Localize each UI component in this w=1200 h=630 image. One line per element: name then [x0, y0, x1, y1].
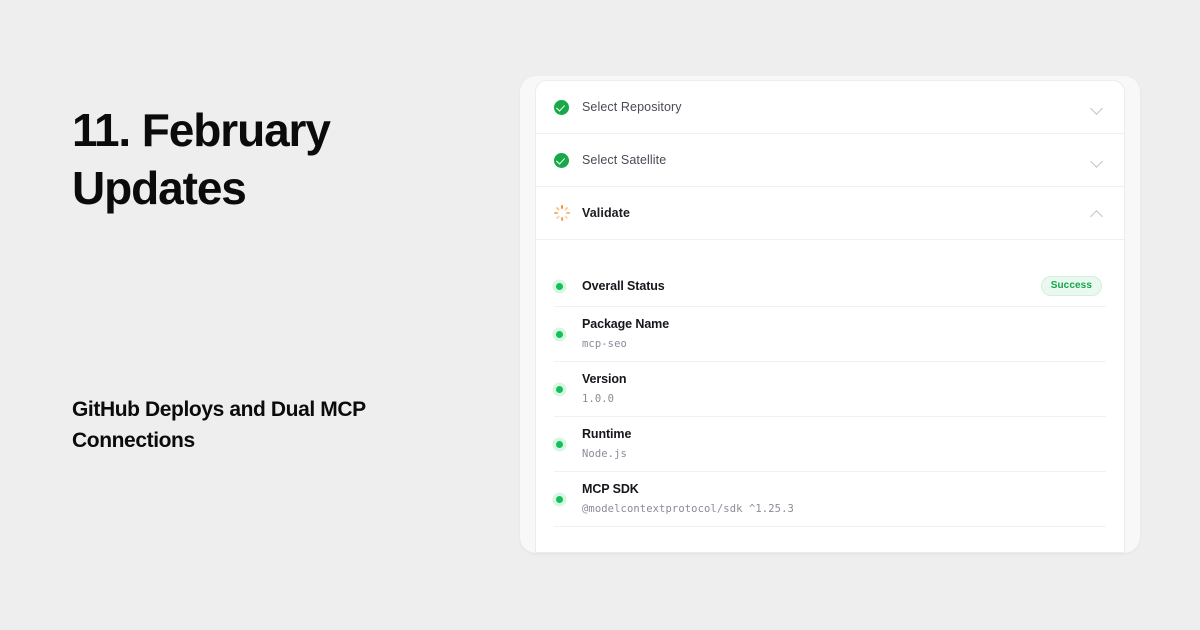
detail-body: Package Name mcp-seo: [582, 307, 1102, 361]
detail-value: mcp-seo: [582, 336, 1102, 352]
status-dot-icon: [556, 331, 563, 338]
page-title: 11. February Updates: [72, 101, 432, 217]
step-status-slot: [554, 100, 582, 115]
detail-dot-slot: [554, 386, 582, 393]
detail-body: Overall Status: [582, 278, 1041, 295]
validate-details-panel: Overall Status Success Package Name mcp-…: [536, 240, 1124, 527]
status-dot-icon: [556, 496, 563, 503]
wizard-step-select-satellite[interactable]: Select Satellite: [536, 134, 1124, 187]
detail-dot-slot: [554, 496, 582, 503]
detail-row-runtime: Runtime Node.js: [554, 417, 1106, 472]
status-dot-icon: [556, 386, 563, 393]
step-status-slot: [554, 153, 582, 168]
wizard-step-validate[interactable]: Validate: [536, 187, 1124, 240]
detail-dot-slot: [554, 441, 582, 448]
hero-text-column: 11. February Updates GitHub Deploys and …: [72, 0, 472, 630]
detail-key: Runtime: [582, 426, 1102, 443]
detail-row-mcp-sdk: MCP SDK @modelcontextprotocol/sdk ^1.25.…: [554, 472, 1106, 527]
spinner-icon: [554, 205, 570, 221]
detail-dot-slot: [554, 331, 582, 338]
wizard-step-label: Validate: [582, 206, 1091, 220]
status-dot-icon: [556, 283, 563, 290]
detail-key: Version: [582, 371, 1102, 388]
chevron-up-icon[interactable]: [1091, 208, 1102, 219]
wizard-step-label: Select Satellite: [582, 153, 1091, 167]
detail-value: Node.js: [582, 446, 1102, 462]
wizard-step-select-repository[interactable]: Select Repository: [536, 81, 1124, 134]
step-status-slot: [554, 205, 582, 221]
detail-body: Version 1.0.0: [582, 362, 1102, 416]
detail-row-overall-status: Overall Status Success: [554, 266, 1106, 307]
detail-value: 1.0.0: [582, 391, 1102, 407]
status-dot-icon: [556, 441, 563, 448]
chevron-down-icon[interactable]: [1091, 155, 1102, 166]
detail-dot-slot: [554, 283, 582, 290]
page-subtitle: GitHub Deploys and Dual MCP Connections: [72, 394, 432, 456]
detail-key: Package Name: [582, 316, 1102, 333]
wizard-step-label: Select Repository: [582, 100, 1091, 114]
detail-body: MCP SDK @modelcontextprotocol/sdk ^1.25.…: [582, 472, 1102, 526]
check-circle-icon: [554, 153, 569, 168]
status-badge: Success: [1041, 276, 1102, 296]
chevron-down-icon[interactable]: [1091, 102, 1102, 113]
detail-row-version: Version 1.0.0: [554, 362, 1106, 417]
detail-row-package-name: Package Name mcp-seo: [554, 307, 1106, 362]
detail-key: MCP SDK: [582, 481, 1102, 498]
detail-value: @modelcontextprotocol/sdk ^1.25.3: [582, 501, 1102, 517]
check-circle-icon: [554, 100, 569, 115]
detail-body: Runtime Node.js: [582, 417, 1102, 471]
deployment-wizard-card: Select Repository Select Satellite Valid…: [535, 80, 1125, 553]
detail-key: Overall Status: [582, 278, 1041, 295]
